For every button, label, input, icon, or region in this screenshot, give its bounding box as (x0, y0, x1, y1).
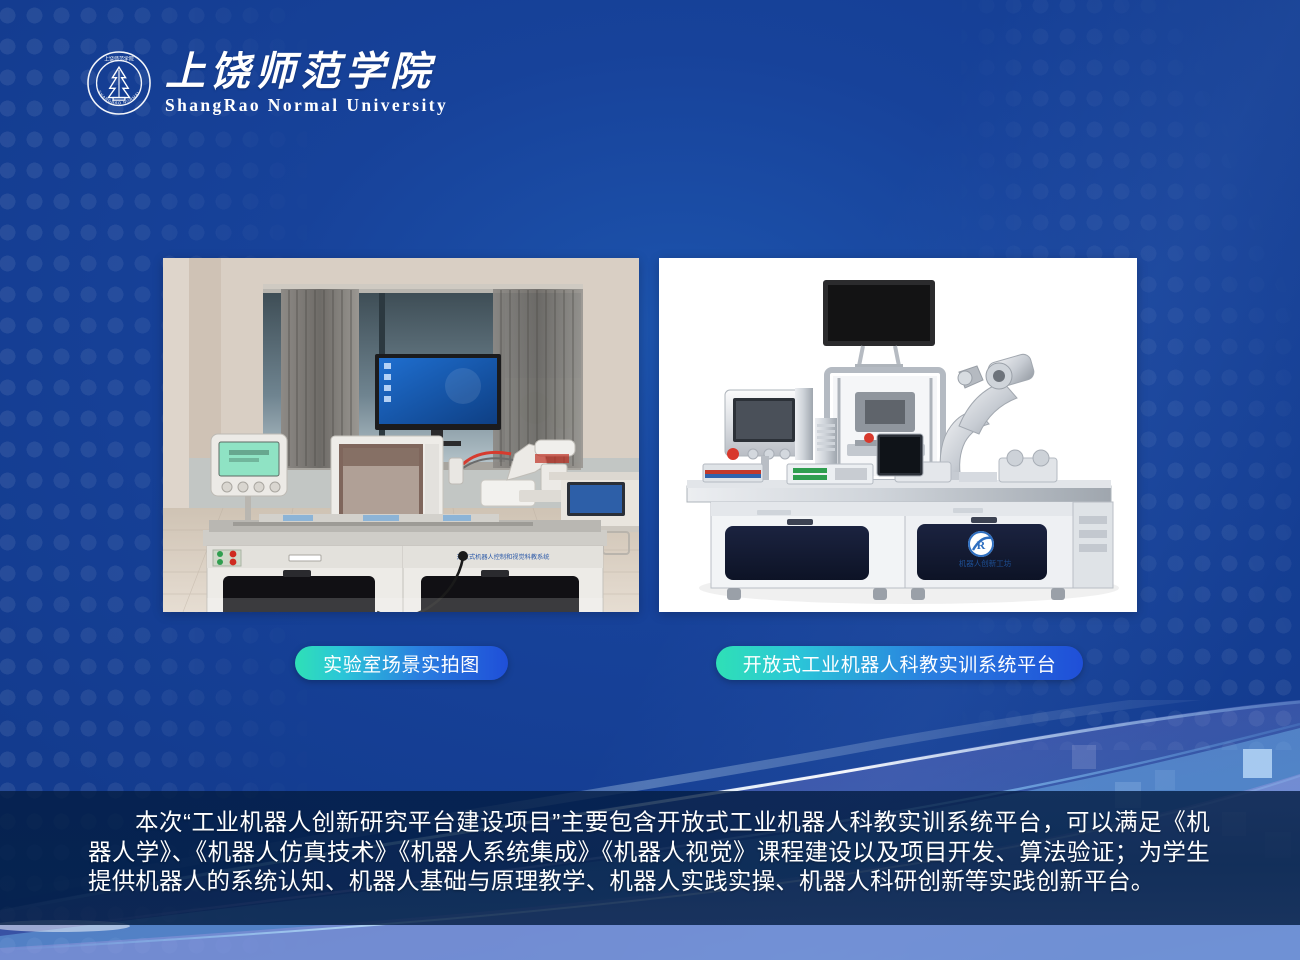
svg-text:机器人创新工坊: 机器人创新工坊 (959, 558, 1012, 568)
description-paragraph: 本次“工业机器人创新研究平台建设项目”主要包含开放式工业机器人科教实训系统平台，… (88, 808, 1210, 897)
university-crest-icon: 上饶师范学院 SHANGRAO NORMAL COLLEGE (86, 50, 152, 116)
caption-product-platform[interactable]: 开放式工业机器人科教实训系统平台 (716, 646, 1083, 680)
svg-text:R: R (977, 538, 986, 552)
equipment-label: 开放式机器人控制和视觉科教系统 (457, 553, 550, 561)
university-name-en: ShangRao Normal University (165, 95, 448, 116)
caption-lab-scene[interactable]: 实验室场景实拍图 (295, 646, 508, 680)
svg-text:上饶师范学院: 上饶师范学院 (104, 56, 134, 63)
university-logo: 上饶师范学院 SHANGRAO NORMAL COLLEGE 上饶师范学院 Sh… (86, 50, 448, 116)
photo-lab-scene[interactable]: 开放式机器人控制和视觉科教系统 (163, 258, 639, 612)
slide-canvas: 上饶师范学院 SHANGRAO NORMAL COLLEGE 上饶师范学院 Sh… (0, 0, 1300, 960)
university-name-cn: 上饶师范学院 (165, 51, 448, 93)
photo-product-render[interactable]: R 机器人创新工坊 (659, 258, 1137, 612)
